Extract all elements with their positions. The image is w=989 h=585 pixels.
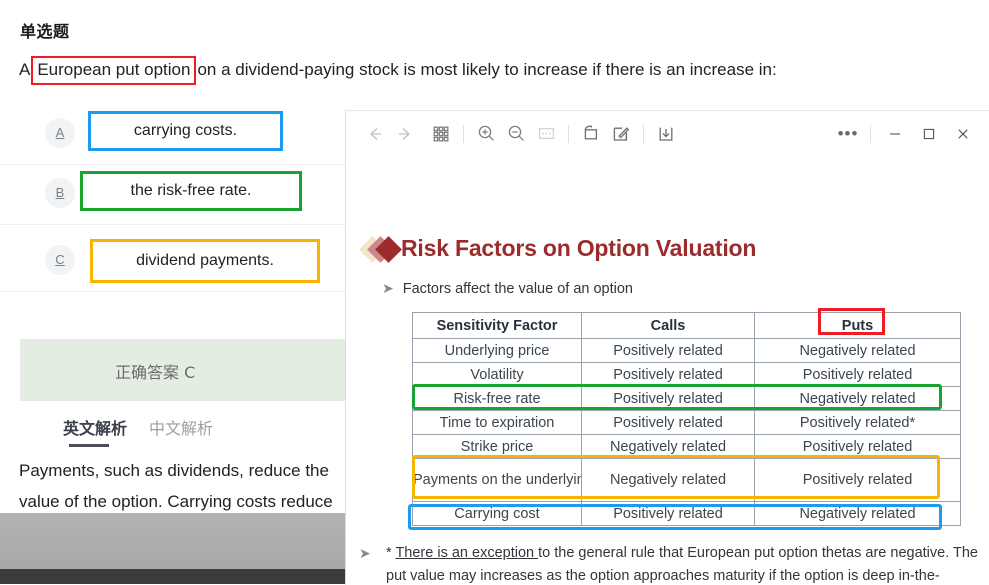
table-header-row: Sensitivity Factor Calls Puts [413,313,961,339]
bullet-chevron-icon: ➤ [382,280,394,296]
minimize-icon[interactable] [878,119,912,149]
option-box-c[interactable]: dividend payments. [90,239,320,283]
grid-thumbnails-icon[interactable] [426,119,456,149]
stem-prefix: A [19,60,30,79]
slide-canvas: Risk Factors on Option Valuation ➤Factor… [346,156,989,585]
table-row: Risk-free rate Positively related Negati… [413,387,961,411]
option-row-a[interactable]: A carrying costs. [0,104,350,165]
cell-factor: Underlying price [413,339,582,363]
rotate-icon[interactable] [576,119,606,149]
table-row: Time to expiration Positively related Po… [413,411,961,435]
table-header-sensitivity-factor: Sensitivity Factor [413,313,582,339]
cell-puts: Positively related [755,459,961,502]
cell-puts: Positively related* [755,411,961,435]
back-arrow-icon[interactable] [360,119,390,149]
option-letter-b: B [45,178,75,208]
cell-calls: Positively related [582,387,755,411]
viewer-titlebar: ••• [346,111,989,156]
cell-puts: Negatively related [755,502,961,526]
download-icon[interactable] [651,119,681,149]
option-letter-a: A [45,118,75,148]
cell-puts: Negatively related [755,387,961,411]
question-type-label: 单选题 [20,18,70,42]
table-row: Underlying price Positively related Nega… [413,339,961,363]
cell-calls: Positively related [582,363,755,387]
cell-puts: Positively related [755,435,961,459]
slide-bullet-1-text: Factors affect the value of an option [403,281,633,297]
cell-calls: Negatively related [582,459,755,502]
cell-calls: Positively related [582,339,755,363]
cell-calls: Negatively related [582,435,755,459]
cell-calls: Positively related [582,411,755,435]
bottom-dark-bar [0,569,345,584]
footnote-chevron-icon: ➤ [359,542,371,565]
option-row-b[interactable]: B the risk-free rate. [0,164,350,225]
table-row: Payments on the underlying Negatively re… [413,459,961,502]
window-controls: ••• [833,111,980,156]
forward-arrow-icon[interactable] [390,119,420,149]
annotate-icon[interactable] [606,119,636,149]
footnote-star: * [386,545,392,561]
cell-factor: Time to expiration [413,411,582,435]
stem-highlight-european-put-option: European put option [31,56,196,85]
table-header-puts: Puts [755,313,961,339]
option-box-b[interactable]: the risk-free rate. [80,171,302,211]
toolbar-divider-3 [643,125,644,143]
cell-factor: Strike price [413,435,582,459]
more-options-icon[interactable]: ••• [833,119,863,149]
footnote-underlined: There is an exception [395,545,538,561]
bottom-grey-bar [0,513,345,569]
tab-english-explanation[interactable]: 英文解析 [63,415,127,439]
cell-puts: Negatively related [755,339,961,363]
cell-factor: Risk-free rate [413,387,582,411]
window-controls-divider [870,125,871,143]
correct-answer-label: 正确答案 C [115,359,195,383]
table-row: Carrying cost Positively related Negativ… [413,502,961,526]
cell-factor: Volatility [413,363,582,387]
viewer-toolbar [360,111,681,156]
slide-footnote: ➤ * There is an exception to the general… [359,542,979,585]
stem-suffix: on a dividend-paying stock is most likel… [197,60,776,79]
question-stem: AEuropean put optionon a dividend-paying… [19,56,979,85]
table-header-calls: Calls [582,313,755,339]
option-box-a[interactable]: carrying costs. [88,111,283,151]
close-icon[interactable] [946,119,980,149]
cell-puts: Positively related [755,363,961,387]
tab-chinese-explanation[interactable]: 中文解析 [149,415,213,439]
cell-factor: Carrying cost [413,502,582,526]
diamond-logo-icon [359,234,407,266]
correct-answer-panel: 正确答案 C [20,339,350,401]
table-row: Volatility Positively related Positively… [413,363,961,387]
fit-width-icon[interactable] [531,119,561,149]
zoom-out-icon[interactable] [501,119,531,149]
option-letter-c: C [45,245,75,275]
option-row-c[interactable]: C dividend payments. [0,229,350,292]
footnote-body: * There is an exception to the general r… [386,542,979,585]
cell-calls: Positively related [582,502,755,526]
slide-title: Risk Factors on Option Valuation [401,235,756,262]
toolbar-divider-2 [568,125,569,143]
document-viewer-window: ••• Risk Factors on Option Valuation ➤Fa… [345,110,989,585]
explanation-tabs: 英文解析中文解析 [63,415,235,439]
maximize-icon[interactable] [912,119,946,149]
table-row: Strike price Negatively related Positive… [413,435,961,459]
zoom-in-icon[interactable] [471,119,501,149]
risk-factors-table: Sensitivity Factor Calls Puts Underlying… [412,312,961,526]
toolbar-divider-1 [463,125,464,143]
slide-bullet-1: ➤Factors affect the value of an option [382,280,633,297]
cell-factor: Payments on the underlying [413,459,582,502]
